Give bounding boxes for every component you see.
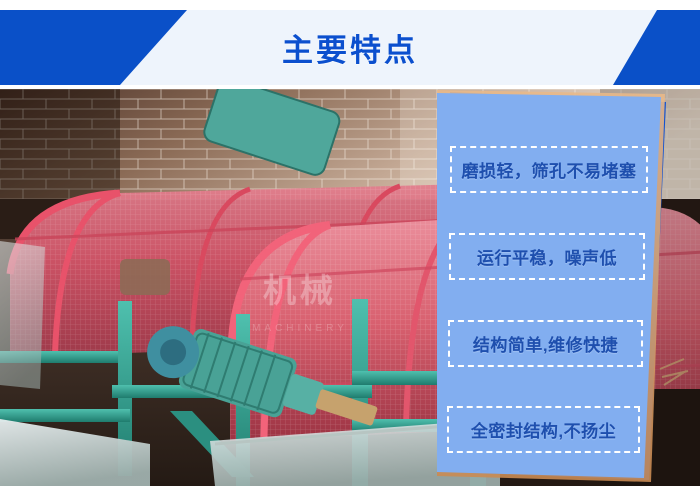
feature-item: 磨损轻，筛孔不易堵塞 xyxy=(450,146,648,193)
page-title: 主要特点 xyxy=(0,10,700,85)
feature-list: 磨损轻，筛孔不易堵塞 运行平稳，噪声低 结构简单,维修快捷 全密封结构,不扬尘 xyxy=(437,93,661,478)
page-root: 主要特点 xyxy=(0,0,700,486)
feature-item: 结构简单,维修快捷 xyxy=(448,320,643,367)
feature-item: 运行平稳，噪声低 xyxy=(449,233,645,280)
feature-item: 全密封结构,不扬尘 xyxy=(447,406,640,453)
header-banner: 主要特点 xyxy=(0,10,700,85)
